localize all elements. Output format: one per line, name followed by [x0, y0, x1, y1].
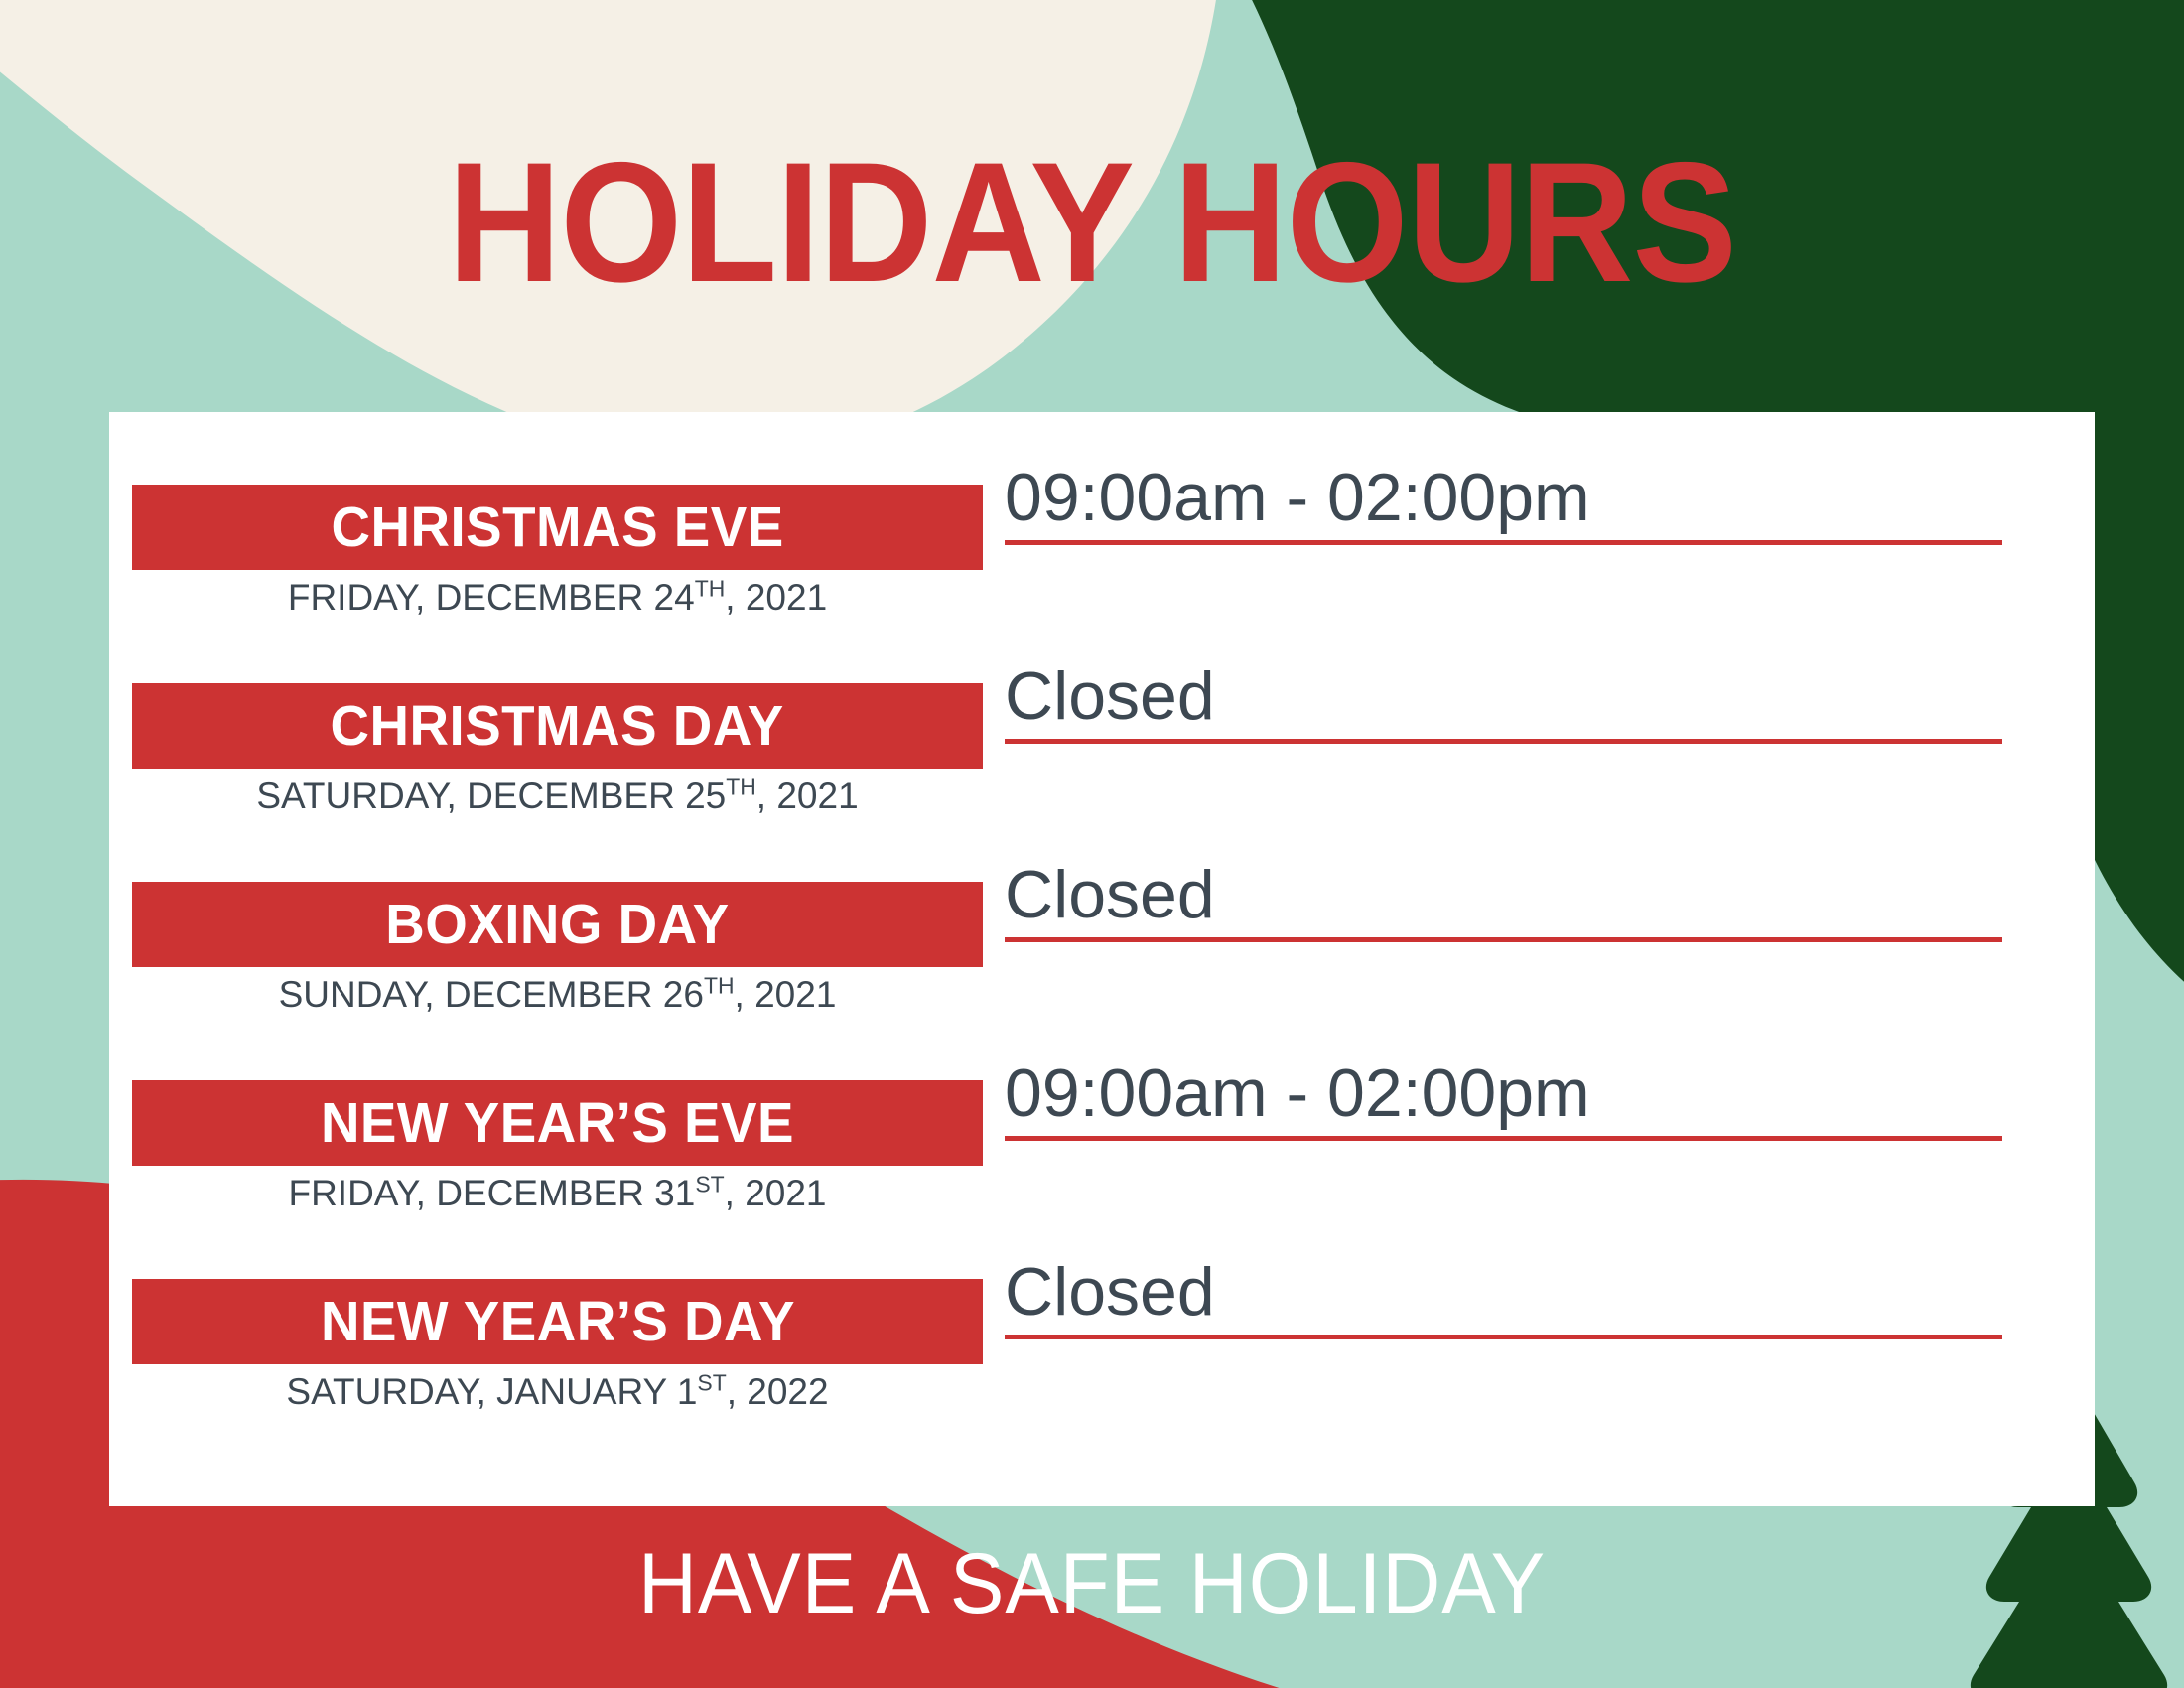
schedule-row: BOXING DAY SUNDAY, DECEMBER 26TH, 2021 C…	[109, 809, 2095, 1008]
hours-underline	[1005, 739, 2002, 744]
schedule-row: NEW YEAR’S DAY SATURDAY, JANUARY 1ST, 20…	[109, 1206, 2095, 1415]
hours-value: 09:00am - 02:00pm	[1005, 1057, 2002, 1136]
hours-underline	[1005, 540, 2002, 545]
hours-value: 09:00am - 02:00pm	[1005, 462, 2002, 540]
date-ordinal-suffix: TH	[726, 774, 756, 800]
hours-cell: Closed	[1005, 660, 2002, 744]
holiday-hours-poster: HOLIDAY HOURS CHRISTMAS EVE FRIDAY, DECE…	[0, 0, 2184, 1688]
date-ordinal-suffix: ST	[695, 1172, 724, 1197]
holiday-name: NEW YEAR’S EVE	[321, 1095, 794, 1152]
hours-cell: 09:00am - 02:00pm	[1005, 1057, 2002, 1141]
holiday-label-bar: CHRISTMAS EVE	[132, 485, 983, 570]
holiday-label-bar: BOXING DAY	[132, 882, 983, 967]
date-ordinal-suffix: ST	[697, 1370, 726, 1396]
schedule-row: NEW YEAR’S EVE FRIDAY, DECEMBER 31ST, 20…	[109, 1008, 2095, 1206]
date-ordinal-suffix: TH	[695, 576, 726, 602]
hours-cell: Closed	[1005, 859, 2002, 942]
holiday-name: BOXING DAY	[385, 897, 729, 953]
hours-value: Closed	[1005, 859, 2002, 937]
holiday-name: NEW YEAR’S DAY	[320, 1294, 794, 1350]
holiday-name: CHRISTMAS DAY	[331, 698, 784, 755]
hours-value: Closed	[1005, 1256, 2002, 1335]
hours-underline	[1005, 1136, 2002, 1141]
page-title: HOLIDAY HOURS	[87, 137, 2097, 308]
date-year: , 2022	[727, 1371, 829, 1412]
holiday-date: SATURDAY, JANUARY 1ST, 2022	[132, 1373, 983, 1410]
holiday-name: CHRISTMAS EVE	[331, 499, 783, 556]
hours-underline	[1005, 1335, 2002, 1339]
hours-value: Closed	[1005, 660, 2002, 739]
holiday-label-bar: NEW YEAR’S EVE	[132, 1080, 983, 1166]
hours-cell: 09:00am - 02:00pm	[1005, 462, 2002, 545]
date-main: SATURDAY, JANUARY 1	[286, 1371, 697, 1412]
schedule-card: CHRISTMAS EVE FRIDAY, DECEMBER 24TH, 202…	[109, 412, 2095, 1506]
schedule-rows: CHRISTMAS EVE FRIDAY, DECEMBER 24TH, 202…	[109, 412, 2095, 1415]
hours-underline	[1005, 937, 2002, 942]
date-ordinal-suffix: TH	[704, 973, 735, 999]
holiday-label-bar: NEW YEAR’S DAY	[132, 1279, 983, 1364]
schedule-row: CHRISTMAS DAY SATURDAY, DECEMBER 25TH, 2…	[109, 611, 2095, 809]
footer-message: HAVE A SAFE HOLIDAY	[55, 1541, 2129, 1626]
schedule-row: CHRISTMAS EVE FRIDAY, DECEMBER 24TH, 202…	[109, 412, 2095, 611]
hours-cell: Closed	[1005, 1256, 2002, 1339]
holiday-label-bar: CHRISTMAS DAY	[132, 683, 983, 769]
